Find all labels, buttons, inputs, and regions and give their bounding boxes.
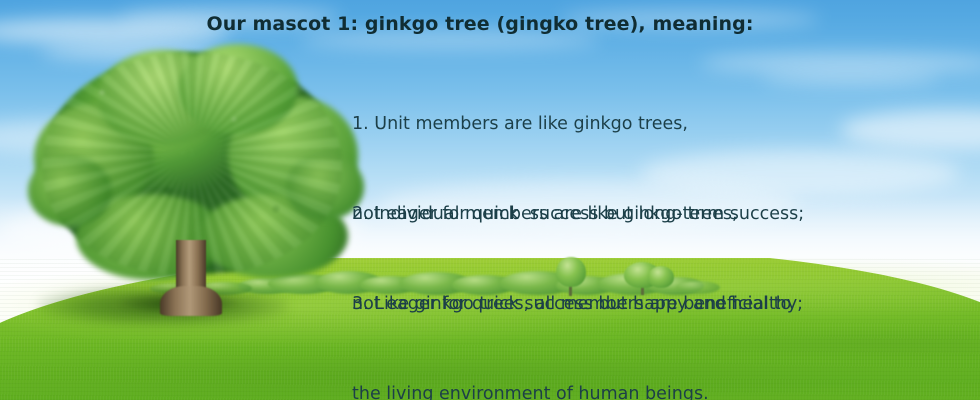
mascot-banner: Our mascot 1: ginkgo tree (gingko tree),… (0, 0, 980, 400)
paragraph-3: 3. Like ginkgo trees, all members are be… (352, 229, 791, 400)
paragraph-3-line-2: the living environment of human beings. (352, 379, 791, 400)
paragraph-2-line-1: 2. Individual members are like ginkgo tr… (352, 199, 803, 229)
page-title: Our mascot 1: ginkgo tree (gingko tree),… (0, 13, 960, 35)
text-overlay: Our mascot 1: ginkgo tree (gingko tree),… (0, 0, 980, 400)
paragraph-3-line-1: 3. Like ginkgo trees, all members are be… (352, 289, 791, 319)
paragraph-1-line-1: 1. Unit members are like ginkgo trees, (352, 109, 804, 139)
